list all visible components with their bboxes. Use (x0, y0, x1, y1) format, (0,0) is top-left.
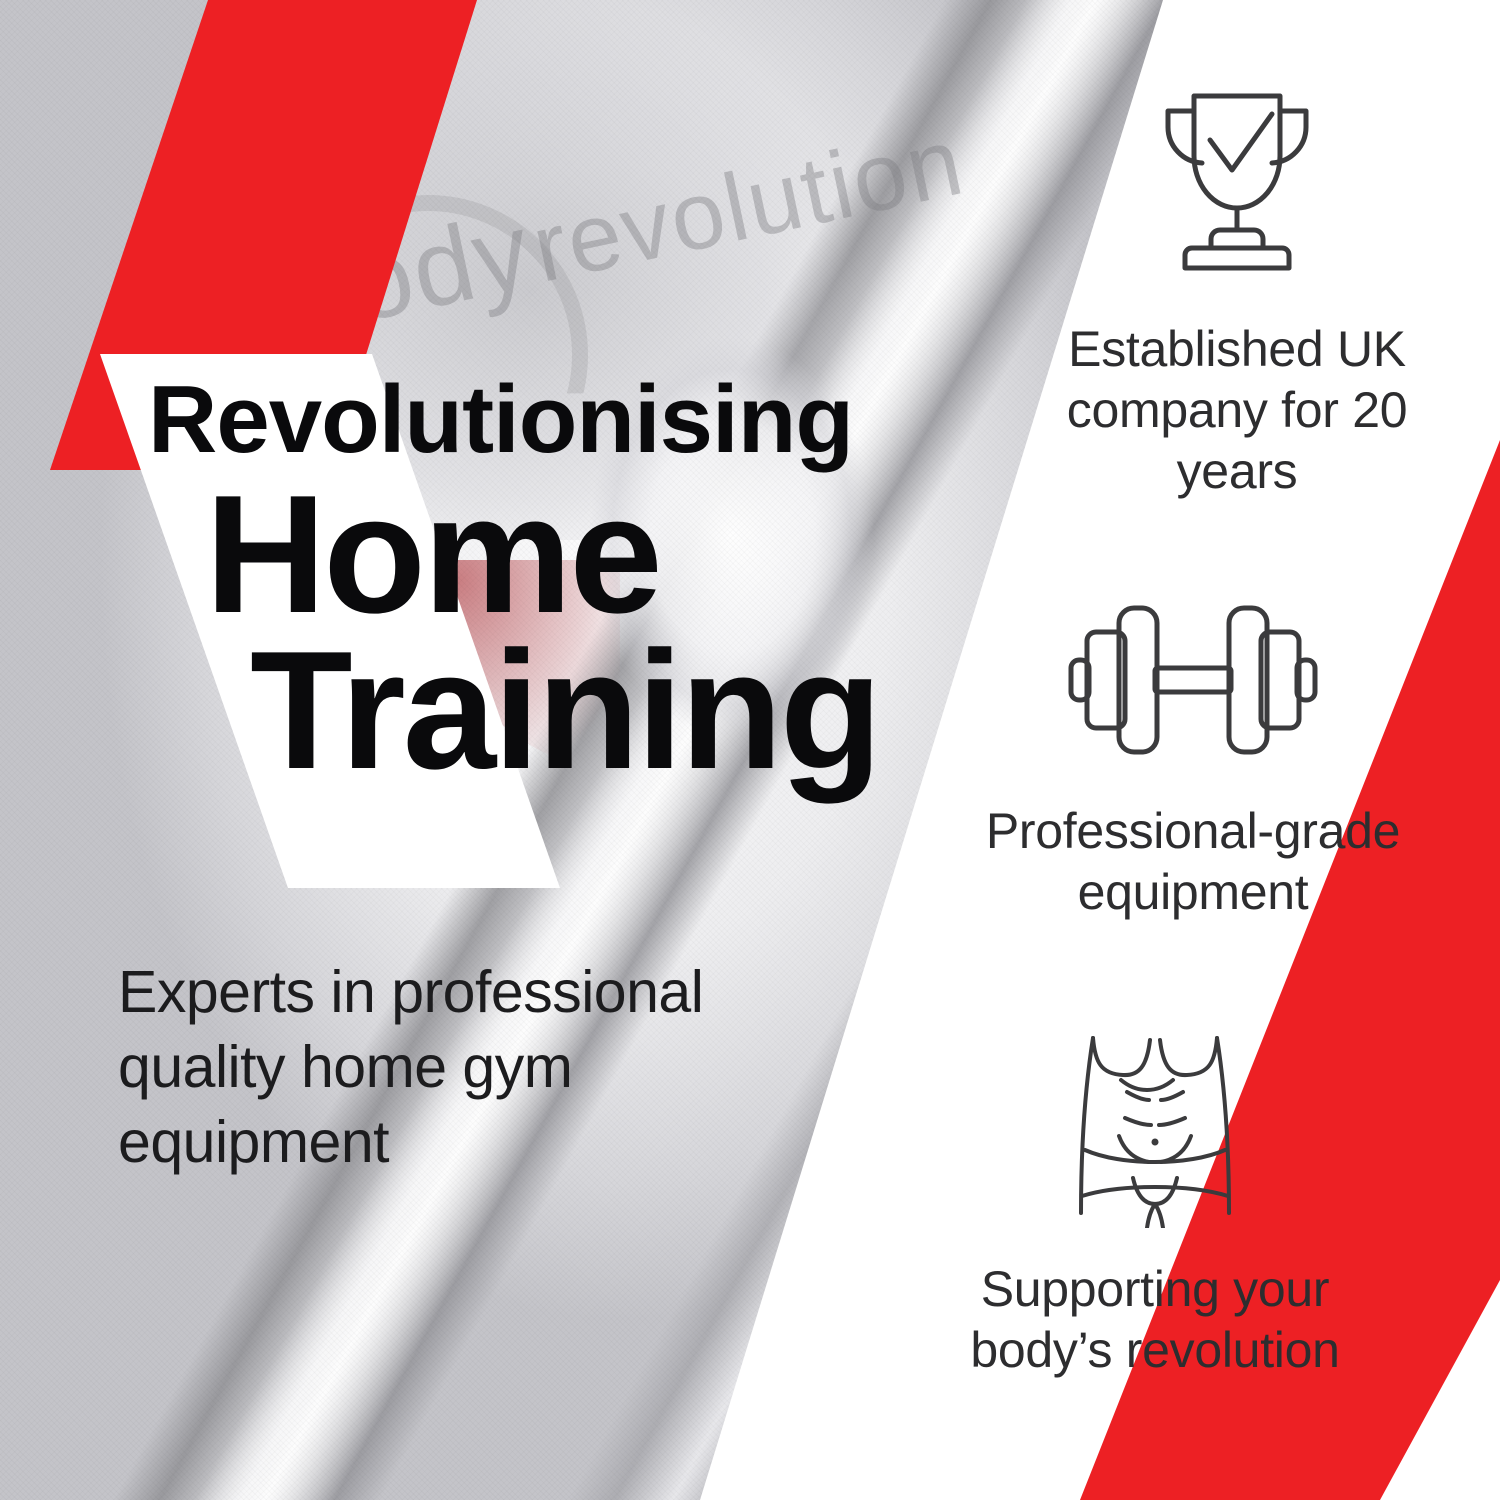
feature-label: Established UK company for 20 years (1002, 319, 1472, 502)
trophy-check-icon (1002, 78, 1472, 293)
feature-item-established: Established UK company for 20 years (1002, 78, 1472, 502)
feature-item-equipment: Professional-grade equipment (958, 590, 1428, 923)
feature-list: Established UK company for 20 years Prof… (900, 0, 1500, 1500)
feature-item-support: Supporting your body’s revolution (920, 1028, 1390, 1381)
feature-label: Supporting your body’s revolution (920, 1259, 1390, 1381)
torso-abs-icon (920, 1028, 1390, 1233)
promo-banner: body revolution Revolutionising Home Tra… (0, 0, 1500, 1500)
subtitle: Experts in professional quality home gym… (118, 955, 838, 1180)
dumbbell-icon (958, 590, 1428, 775)
feature-label: Professional-grade equipment (958, 801, 1428, 923)
